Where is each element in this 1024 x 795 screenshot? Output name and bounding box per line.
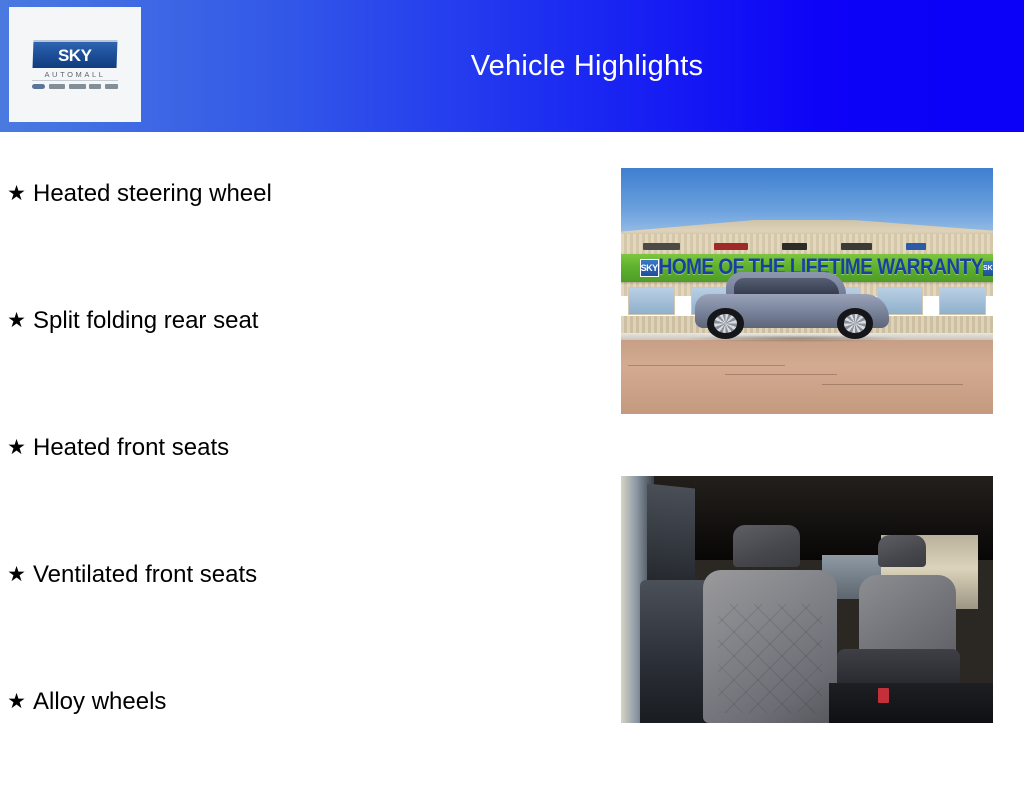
banner-sky-badge: SKY [640, 259, 659, 277]
slide-header: Vehicle Highlights SKY AUTOMALL [0, 0, 1024, 132]
star-icon: ★ [0, 432, 33, 463]
vehicle-silhouette [695, 274, 888, 340]
dodge-sign-icon [714, 243, 748, 250]
driver-headrest [733, 525, 800, 567]
brand-mark-dodge-icon [69, 84, 86, 89]
brand-mark-chrysler-icon [49, 84, 65, 89]
list-item: ★ Heated front seats [0, 414, 600, 541]
vehicle-interior-photo [621, 476, 993, 723]
window-pane [939, 287, 985, 315]
pavement-crack [822, 384, 963, 385]
star-icon: ★ [0, 559, 33, 590]
list-item: ★ Split folding rear seat [0, 287, 600, 414]
logo-brand-marks [32, 84, 118, 89]
brand-mark-sky-icon [32, 84, 45, 89]
logo-banner: SKY [33, 40, 118, 68]
pavement-crack [628, 365, 784, 366]
seatbelt-buckle-icon [878, 688, 889, 703]
brand-mark-jeep-icon [89, 84, 101, 89]
chrysler-sign-icon [643, 243, 680, 250]
list-item: ★ Alloy wheels [0, 668, 600, 795]
dealership-logo: SKY AUTOMALL [9, 7, 141, 122]
list-item: ★ Heated steering wheel [0, 160, 600, 287]
list-item: ★ Ventilated front seats [0, 541, 600, 668]
star-icon: ★ [0, 686, 33, 717]
logo-divider [32, 80, 118, 81]
highlight-label: Heated steering wheel [33, 178, 272, 209]
jeep-sign-icon [782, 243, 807, 250]
logo-wordmark: SKY [58, 46, 91, 63]
building-brand-logos [643, 241, 926, 253]
star-icon: ★ [0, 305, 33, 336]
star-icon: ★ [0, 178, 33, 209]
center-armrest [837, 649, 960, 689]
pavement-crack [725, 374, 837, 375]
brand-mark-ram-icon [105, 84, 118, 89]
highlights-list: ★ Heated steering wheel ★ Split folding … [0, 160, 600, 795]
logo-tagline: AUTOMALL [44, 71, 105, 79]
highlight-label: Split folding rear seat [33, 305, 258, 336]
vehicle-front-wheel [707, 308, 744, 339]
highlight-label: Ventilated front seats [33, 559, 257, 590]
seat-quilting-pattern [718, 604, 822, 713]
ram-sign-icon [841, 243, 872, 250]
parking-lot-surface [621, 340, 993, 414]
vehicle-rear-wheel [837, 308, 874, 339]
page-title: Vehicle Highlights [150, 0, 1024, 132]
highlight-label: Heated front seats [33, 432, 229, 463]
center-console [829, 683, 993, 723]
logo-inner: SKY AUTOMALL [27, 40, 123, 90]
passenger-headrest [878, 535, 926, 567]
sky-sign-icon [906, 243, 926, 250]
window-pane [628, 287, 674, 315]
banner-sky-badge-secondary: SKY [983, 261, 993, 276]
highlight-label: Alloy wheels [33, 686, 166, 717]
vehicle-exterior-photo: SKY HOME OF THE LIFETIME WARRANTY SKY [621, 168, 993, 414]
